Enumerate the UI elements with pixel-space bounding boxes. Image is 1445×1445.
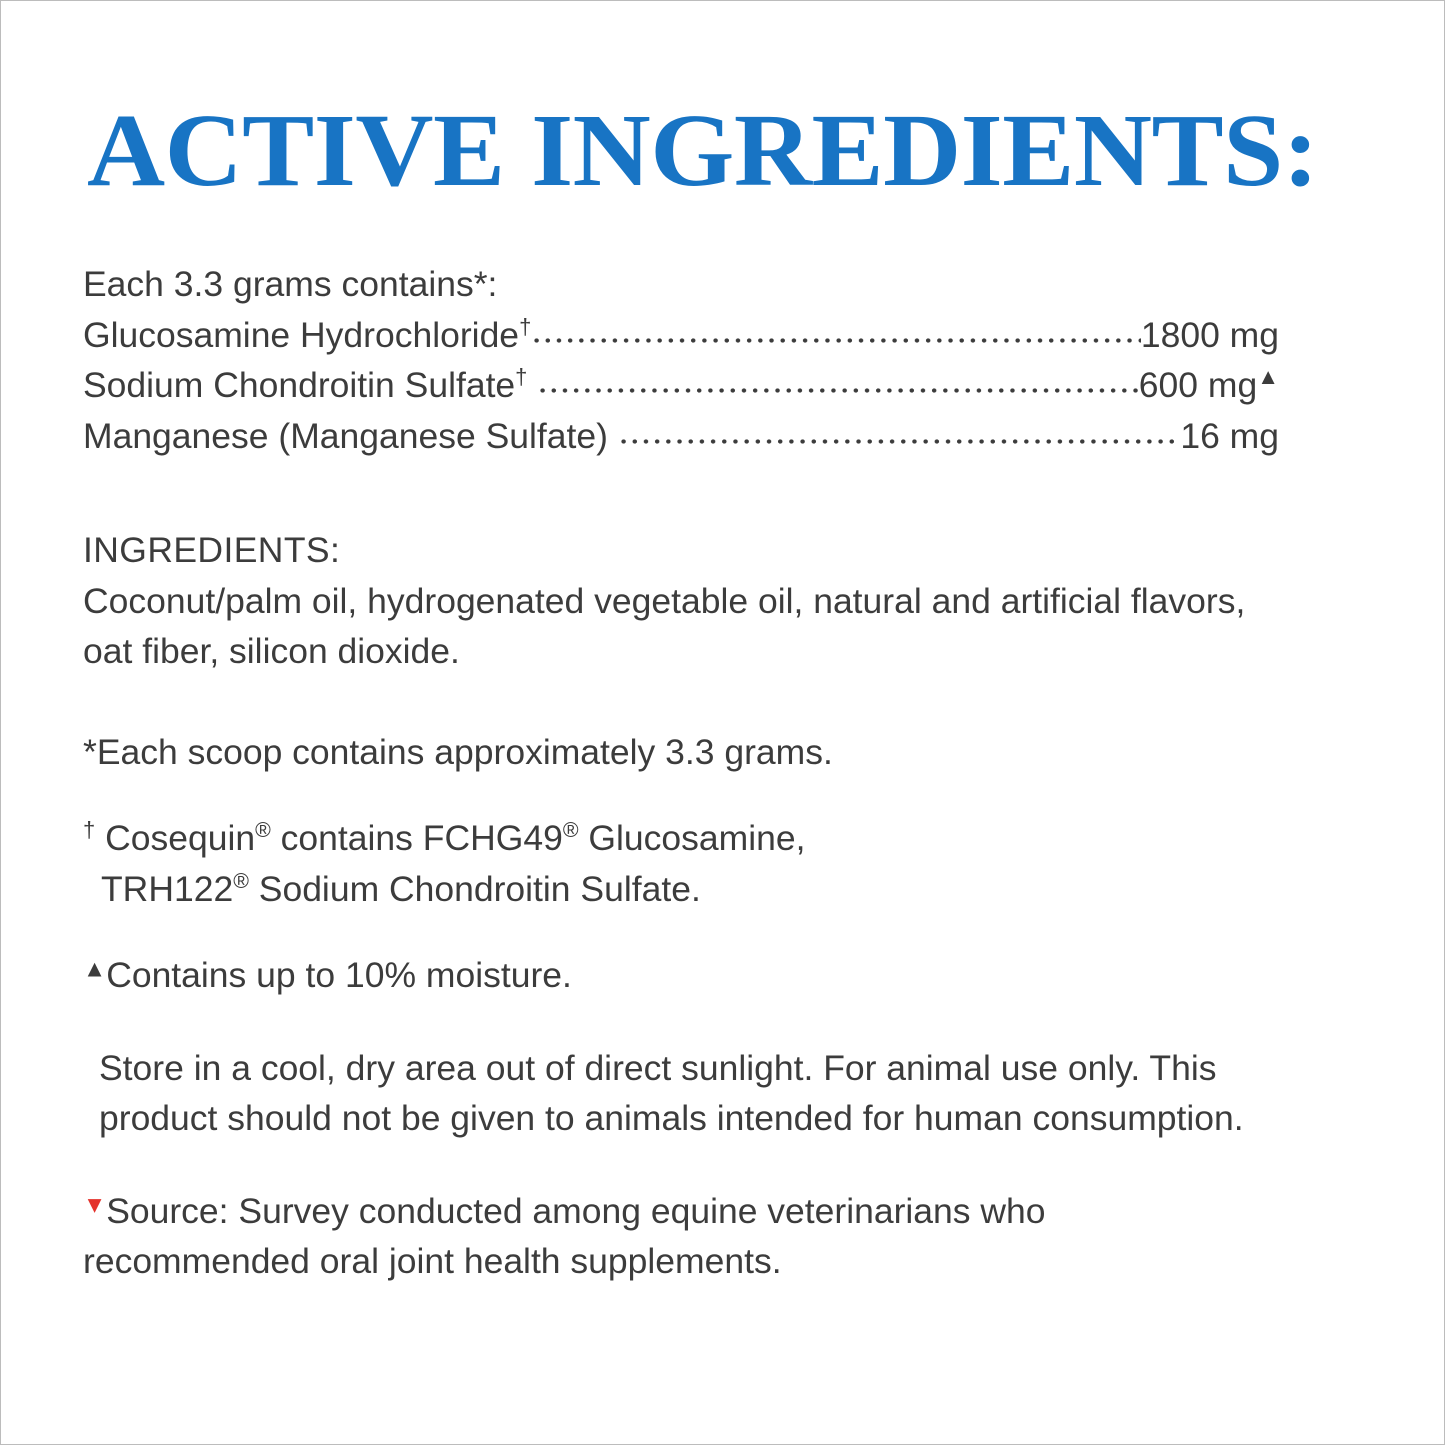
table-row: Manganese (Manganese Sulfate) 16 mg <box>83 411 1279 462</box>
active-ingredients-list: Each 3.3 grams contains*: Glucosamine Hy… <box>83 259 1323 461</box>
ingredient-amount: 1800 mg <box>1141 310 1279 361</box>
ingredient-name: Sodium Chondroitin Sulfate† <box>83 360 537 411</box>
spacer <box>83 677 1323 727</box>
dagger-marker: † <box>515 364 527 389</box>
spacer <box>83 1001 1323 1043</box>
spacer <box>83 777 1323 813</box>
ingredients-text: Coconut/palm oil, hydrogenated vegetable… <box>83 576 1287 677</box>
ingredients-heading: INGREDIENTS: <box>83 525 1323 576</box>
triangle-up-icon: ▲ <box>83 955 106 981</box>
footnote-dagger-line-2: TRH122® Sodium Chondroitin Sulfate. <box>83 864 1323 915</box>
ingredient-amount: 16 mg <box>1180 411 1279 462</box>
registered-icon: ® <box>233 869 249 893</box>
storage-instructions: Store in a cool, dry area out of direct … <box>83 1043 1303 1144</box>
table-row: Glucosamine Hydrochloride† 1800 mg <box>83 310 1279 361</box>
dot-leader <box>537 365 1139 397</box>
registered-icon: ® <box>255 818 271 842</box>
triangle-up-icon: ▲ <box>1257 364 1279 389</box>
triangle-down-icon: ▼ <box>83 1191 106 1217</box>
table-row: Sodium Chondroitin Sulfate† 600 mg▲ <box>83 360 1279 411</box>
footnote-moisture: ▲Contains up to 10% moisture. <box>83 950 1323 1001</box>
dagger-marker: † <box>519 314 531 339</box>
dot-leader <box>531 315 1141 347</box>
registered-icon: ® <box>563 818 579 842</box>
ingredient-name: Glucosamine Hydrochloride† <box>83 310 531 361</box>
dagger-marker: † <box>83 817 95 842</box>
active-ingredients-intro: Each 3.3 grams contains*: <box>83 259 1323 310</box>
footnote-dagger: † Cosequin® contains FCHG49® Glucosamine… <box>83 813 1323 914</box>
content-body: Each 3.3 grams contains*: Glucosamine Hy… <box>83 259 1323 1287</box>
ingredient-amount: 600 mg▲ <box>1139 360 1279 411</box>
ingredients-panel: ACTIVE INGREDIENTS: Each 3.3 grams conta… <box>0 0 1445 1445</box>
dot-leader <box>618 416 1181 448</box>
footnote-scoop: *Each scoop contains approximately 3.3 g… <box>83 727 1323 778</box>
spacer <box>83 1144 1323 1186</box>
spacer <box>83 461 1323 525</box>
footnote-source: ▼Source: Survey conducted among equine v… <box>83 1186 1269 1287</box>
ingredient-name: Manganese (Manganese Sulfate) <box>83 411 618 462</box>
footnote-dagger-line-1: † Cosequin® contains FCHG49® Glucosamine… <box>83 813 1323 864</box>
page-title: ACTIVE INGREDIENTS: <box>87 99 1318 203</box>
spacer <box>83 914 1323 950</box>
